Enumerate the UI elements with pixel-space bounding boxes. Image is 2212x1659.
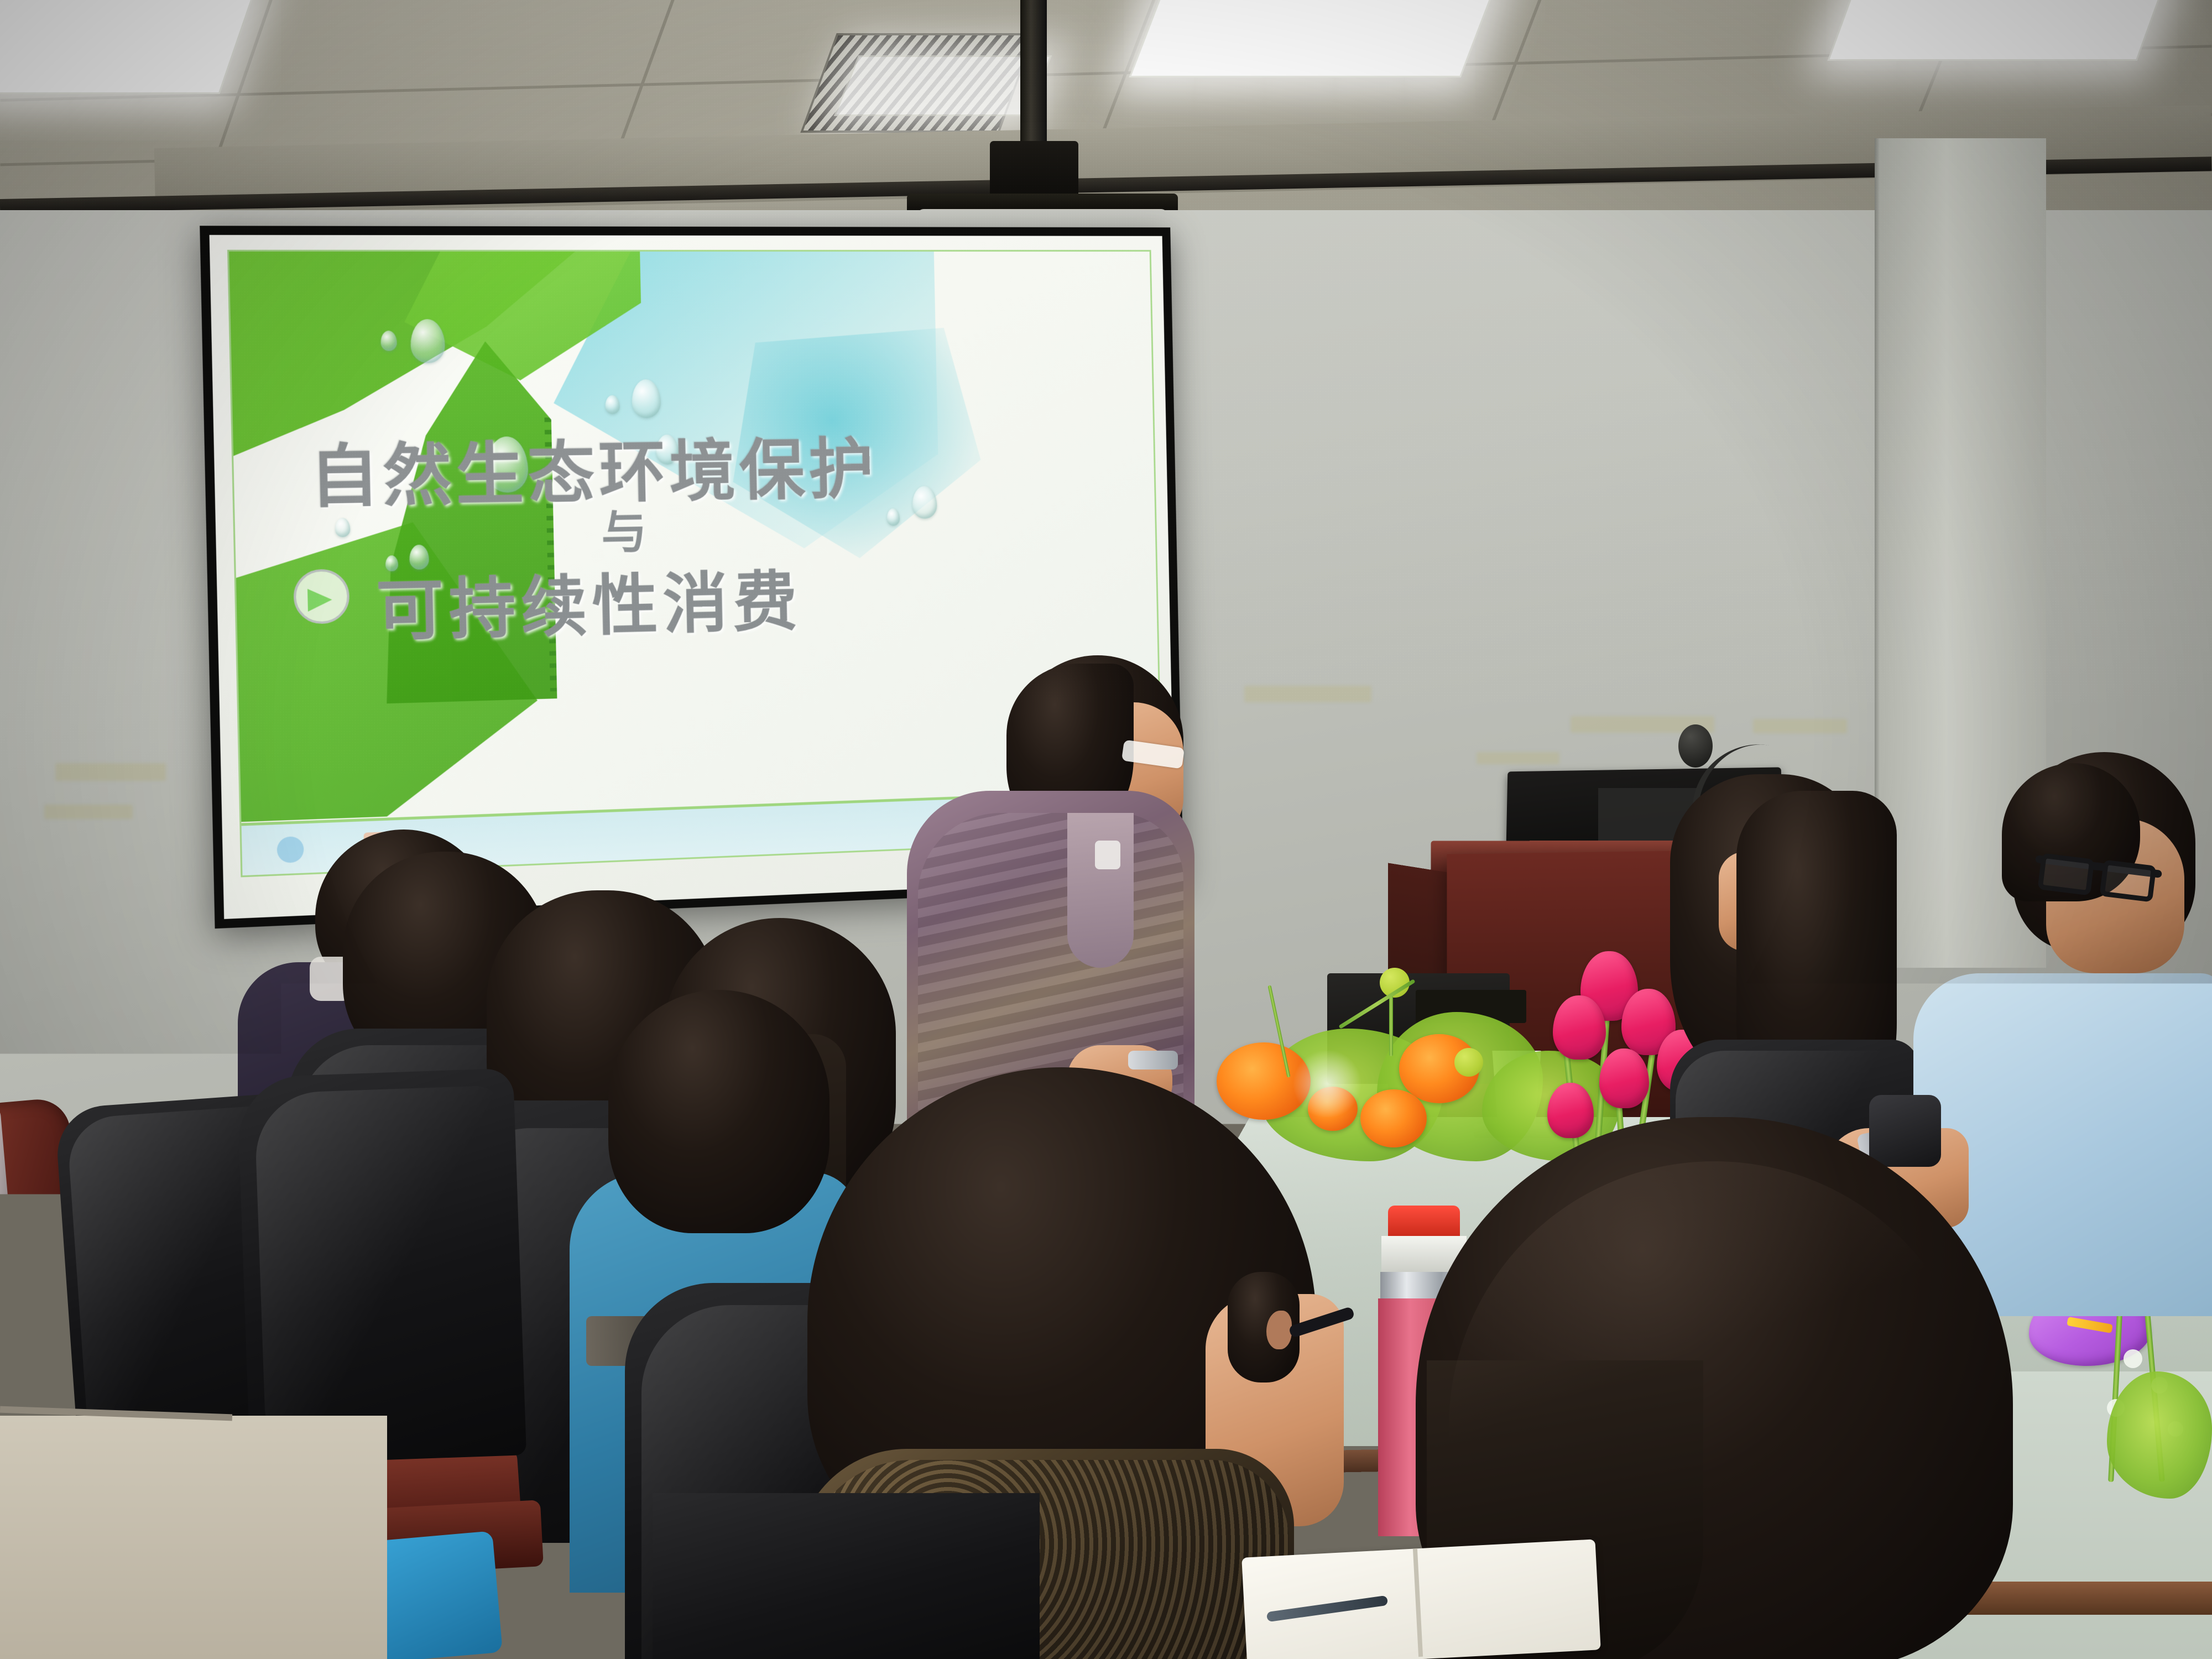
handheld-object [1869, 1095, 1941, 1167]
attendee-foreground-center [653, 1493, 1040, 1659]
ceiling-light-panels [1828, 0, 2166, 61]
attendee-left-4 [608, 990, 830, 1233]
wall-tape-residue [1753, 719, 1847, 733]
floor [0, 1416, 387, 1659]
wall-tape-residue [1477, 752, 1559, 764]
draped-coats [254, 1085, 515, 1447]
wall-tape-residue [55, 763, 166, 781]
slide-subtitle: 可持续性消费 [375, 544, 1037, 654]
wall-tape-residue [44, 805, 133, 819]
wall-tape-residue [1244, 686, 1371, 702]
photo-scene: 自然生态环境保护 与 可持续性消费 [0, 0, 2212, 1659]
pink-thermos [1388, 1206, 1460, 1239]
ceiling-light-panels [834, 55, 1052, 116]
ceiling-light-panels [0, 0, 256, 94]
slide-water-droplet [335, 518, 351, 537]
microphone-capsule-icon [1678, 724, 1713, 768]
slide-footer-dot [276, 836, 304, 863]
ear-icon [1266, 1311, 1292, 1349]
slide-title: 自然生态环境保护 [309, 414, 1029, 521]
presenter-collar [1067, 813, 1134, 968]
ceiling-light-panels [1129, 0, 1504, 77]
projector-mount-pole [1020, 0, 1047, 160]
presenter-necklace [1095, 841, 1120, 869]
eyeglasses-icon [2037, 853, 2094, 895]
eyeglasses-icon [2099, 859, 2156, 902]
presenter-wristwatch-icon [1128, 1051, 1178, 1070]
